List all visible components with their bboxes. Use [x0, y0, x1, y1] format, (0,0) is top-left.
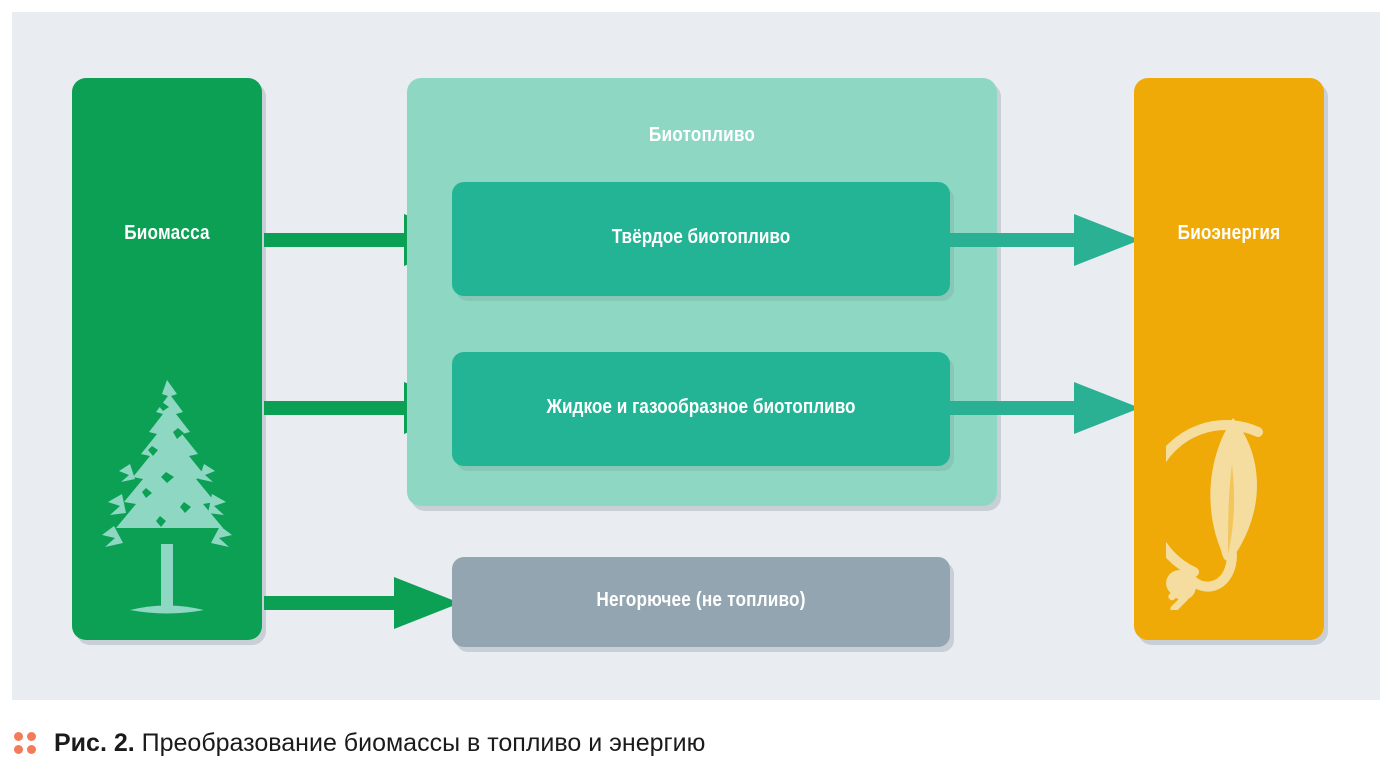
- leaf-plug-energy-icon: [1166, 404, 1292, 610]
- node-biomass-label: Биомасса: [85, 222, 248, 245]
- node-biofuel-group[interactable]: Биотопливо Твёрдое биотопливо Жидкое и г…: [407, 78, 997, 506]
- caption-title: Преобразование биомассы в топливо и энер…: [142, 729, 706, 757]
- caption-figure-number: Рис. 2.: [54, 729, 135, 757]
- four-dots-icon: [14, 732, 36, 754]
- arrow-biomass-to-non-combustible: [264, 575, 460, 631]
- arrow-solid-biofuel-to-bioenergy: [950, 212, 1140, 268]
- arrow-liquid-biofuel-to-bioenergy: [950, 380, 1140, 436]
- figure-canvas: Биомасса: [12, 12, 1380, 700]
- node-solid-biofuel-label: Твёрдое биотопливо: [487, 226, 915, 249]
- figure-caption: Рис. 2. Преобразование биомассы в топлив…: [12, 718, 1372, 768]
- node-non-combustible[interactable]: Негорючее (не топливо): [452, 557, 950, 647]
- node-liquid-gas-biofuel-label: Жидкое и газообразное биотопливо: [487, 396, 915, 419]
- conifer-tree-icon: [100, 376, 234, 636]
- node-bioenergy-label: Биоэнергия: [1147, 222, 1310, 245]
- node-biofuel-group-label: Биотопливо: [448, 124, 955, 147]
- node-non-combustible-label: Негорючее (не топливо): [487, 589, 915, 612]
- node-bioenergy[interactable]: Биоэнергия: [1134, 78, 1324, 640]
- node-solid-biofuel[interactable]: Твёрдое биотопливо: [452, 182, 950, 296]
- node-liquid-gas-biofuel[interactable]: Жидкое и газообразное биотопливо: [452, 352, 950, 466]
- caption-text: Рис. 2. Преобразование биомассы в топлив…: [54, 729, 705, 758]
- node-biomass[interactable]: Биомасса: [72, 78, 262, 640]
